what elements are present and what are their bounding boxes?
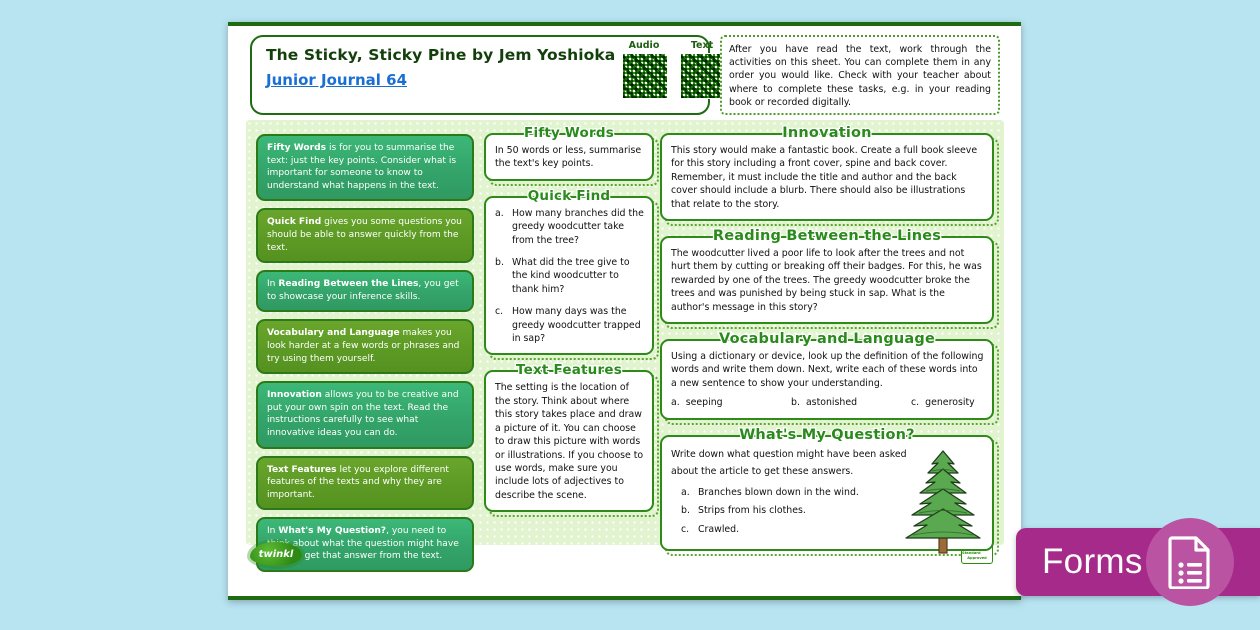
section-text: The woodcutter lived a poor life to look…: [671, 247, 984, 314]
item-text: Branches blown down in the wind.: [698, 486, 859, 499]
list-item: b.astonished: [791, 396, 911, 409]
item-marker: b.: [495, 256, 505, 296]
qr-text[interactable]: Text: [680, 40, 724, 99]
twinkl-logo: twinkl: [250, 542, 302, 566]
help-lead: Quick Find: [267, 217, 321, 227]
help-lead: Reading Between the Lines: [278, 279, 418, 289]
item-marker: b.: [791, 396, 800, 409]
section-reading-between-the-lines: Reading Between the Lines The woodcutter…: [660, 229, 994, 324]
help-pre: In: [267, 526, 278, 536]
list-item: a.seeping: [671, 396, 791, 409]
section-quick-find: Quick Find a.How many branches did the g…: [484, 189, 654, 356]
help-box-text-features: Text Features let you explore different …: [256, 456, 474, 511]
help-box-innovation: Innovation allows you to be creative and…: [256, 381, 474, 448]
section-innovation: Innovation This story would make a fanta…: [660, 126, 994, 221]
worksheet-header: The Sticky, Sticky Pine by Jem Yoshioka …: [250, 35, 1000, 115]
section-text-features: Text Features The setting is the locatio…: [484, 363, 654, 512]
middle-column: Fifty Words In 50 words or less, summari…: [484, 126, 654, 520]
list-item: a.Branches blown down in the wind.: [681, 486, 931, 499]
section-body: This story would make a fantastic book. …: [660, 133, 994, 221]
item-marker: c.: [495, 305, 505, 345]
section-text: Using a dictionary or device, look up th…: [671, 350, 984, 390]
help-box-fifty-words: Fifty Words is for you to summarise the …: [256, 134, 474, 201]
forms-label: Forms: [1042, 542, 1143, 582]
section-text: Write down what question might have been…: [671, 446, 921, 480]
item-marker: a.: [671, 396, 680, 409]
list-item: c.How many days was the greedy woodcutte…: [495, 305, 644, 345]
screen: The Sticky, Sticky Pine by Jem Yoshioka …: [0, 0, 1260, 630]
section-heading: What's My Question?: [660, 428, 994, 443]
page-bottom-border: [228, 596, 1021, 600]
section-text: The setting is the location of the story…: [495, 381, 644, 502]
help-pre: In: [267, 279, 278, 289]
seal-line-2: Approved: [967, 556, 987, 560]
list-item: c.generosity: [911, 396, 975, 409]
item-marker: b.: [681, 504, 691, 517]
list-item: b.Strips from his clothes.: [681, 504, 931, 517]
item-marker: c.: [911, 396, 919, 409]
answer-list: a.Branches blown down in the wind. b.Str…: [681, 486, 931, 536]
help-box-quick-find: Quick Find gives you some questions you …: [256, 208, 474, 263]
section-whats-my-question: What's My Question? Write down what ques…: [660, 428, 994, 551]
activities-panel: Fifty Words is for you to summarise the …: [246, 120, 1004, 545]
instructions-card: After you have read the text, work throu…: [720, 35, 1000, 115]
pine-tree-illustration: [902, 447, 984, 555]
section-body: The woodcutter lived a poor life to look…: [660, 236, 994, 324]
worksheet-page: The Sticky, Sticky Pine by Jem Yoshioka …: [228, 22, 1021, 600]
qr-code-group: Audio Text: [622, 40, 724, 99]
qr-audio-label: Audio: [622, 40, 666, 51]
help-lead: Vocabulary and Language: [267, 328, 400, 338]
section-text: In 50 words or less, summarise the text'…: [495, 144, 644, 171]
qr-code-icon[interactable]: [622, 53, 668, 99]
document-list-icon: [1168, 535, 1212, 589]
help-column: Fifty Words is for you to summarise the …: [256, 134, 474, 579]
help-lead: What's My Question?: [278, 526, 386, 536]
forms-icon-circle[interactable]: [1146, 518, 1234, 606]
help-box-reading-between-lines: In Reading Between the Lines, you get to…: [256, 270, 474, 312]
help-lead: Text Features: [267, 465, 337, 475]
section-body: The setting is the location of the story…: [484, 370, 654, 512]
section-heading: Innovation: [660, 126, 994, 141]
section-heading: Quick Find: [484, 189, 654, 204]
vocabulary-word-list: a.seeping b.astonished c.generosity: [671, 396, 984, 409]
qr-text-label: Text: [680, 40, 724, 51]
section-body: a.How many branches did the greedy woodc…: [484, 196, 654, 356]
list-item: b.What did the tree give to the kind woo…: [495, 256, 644, 296]
instructions-text: After you have read the text, work throu…: [729, 43, 991, 109]
section-heading: Vocabulary and Language: [660, 332, 994, 347]
item-text: What did the tree give to the kind woodc…: [512, 256, 644, 296]
section-heading: Fifty Words: [484, 126, 654, 141]
footer-logo: twinkl: [250, 542, 302, 566]
item-marker: a.: [681, 486, 691, 499]
item-text: Strips from his clothes.: [698, 504, 806, 517]
section-body: Using a dictionary or device, look up th…: [660, 339, 994, 420]
list-item: c.Crawled.: [681, 523, 931, 536]
page-top-border: [228, 22, 1021, 26]
section-fifty-words: Fifty Words In 50 words or less, summari…: [484, 126, 654, 181]
help-lead: Fifty Words: [267, 143, 326, 153]
section-vocabulary-and-language: Vocabulary and Language Using a dictiona…: [660, 332, 994, 420]
section-heading: Reading Between the Lines: [660, 229, 994, 244]
right-column: Innovation This story would make a fanta…: [660, 126, 994, 559]
item-text: astonished: [806, 396, 857, 409]
item-text: How many days was the greedy woodcutter …: [512, 305, 644, 345]
help-lead: Innovation: [267, 390, 322, 400]
section-text: This story would make a fantastic book. …: [671, 144, 984, 211]
item-text: generosity: [925, 396, 975, 409]
section-heading: Text Features: [484, 363, 654, 378]
item-text: Crawled.: [698, 523, 739, 536]
item-marker: c.: [681, 523, 691, 536]
list-item: a.How many branches did the greedy woodc…: [495, 207, 644, 247]
section-body: Write down what question might have been…: [660, 435, 994, 551]
item-text: seeping: [686, 396, 723, 409]
question-list: a.How many branches did the greedy woodc…: [495, 207, 644, 346]
item-text: How many branches did the greedy woodcut…: [512, 207, 644, 247]
help-box-vocabulary: Vocabulary and Language makes you look h…: [256, 319, 474, 374]
item-marker: a.: [495, 207, 505, 247]
qr-audio[interactable]: Audio: [622, 40, 666, 99]
